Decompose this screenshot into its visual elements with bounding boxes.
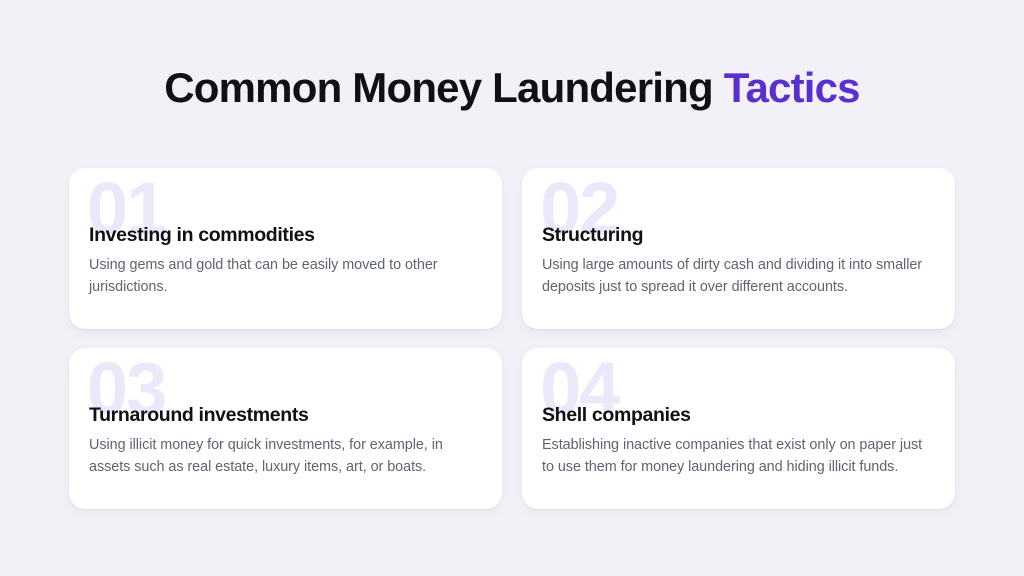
- tactic-card-04[interactable]: 04 Shell companies Establishing inactive…: [522, 348, 955, 509]
- card-heading: Investing in commodities: [89, 223, 482, 247]
- card-content: Investing in commodities Using gems and …: [89, 223, 482, 298]
- card-heading: Structuring: [542, 223, 935, 247]
- card-heading: Shell companies: [542, 403, 935, 427]
- tactic-card-01[interactable]: 01 Investing in commodities Using gems a…: [69, 168, 502, 329]
- tactics-card-grid: 01 Investing in commodities Using gems a…: [69, 168, 955, 509]
- card-content: Structuring Using large amounts of dirty…: [542, 223, 935, 298]
- card-description: Using illicit money for quick investment…: [89, 434, 482, 478]
- tactic-card-03[interactable]: 03 Turnaround investments Using illicit …: [69, 348, 502, 509]
- title-heading: Common Money Laundering Tactics: [0, 64, 1024, 111]
- card-content: Shell companies Establishing inactive co…: [542, 403, 935, 478]
- slide-root: Common Money Laundering Tactics 01 Inves…: [0, 0, 1024, 576]
- title-leading-text: Common Money Laundering: [164, 64, 723, 111]
- card-description: Using large amounts of dirty cash and di…: [542, 254, 935, 298]
- title-accent-text: Tactics: [724, 64, 860, 111]
- tactic-card-02[interactable]: 02 Structuring Using large amounts of di…: [522, 168, 955, 329]
- card-heading: Turnaround investments: [89, 403, 482, 427]
- card-content: Turnaround investments Using illicit mon…: [89, 403, 482, 478]
- card-description: Using gems and gold that can be easily m…: [89, 254, 482, 298]
- page-title: Common Money Laundering Tactics: [0, 64, 1024, 111]
- card-description: Establishing inactive companies that exi…: [542, 434, 935, 478]
